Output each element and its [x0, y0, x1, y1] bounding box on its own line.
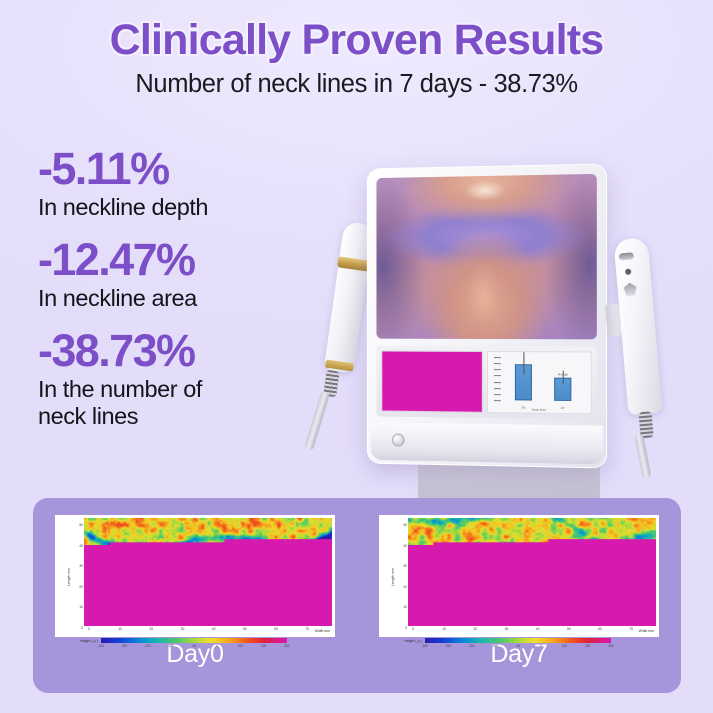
colorbar-tick: 0 — [216, 644, 218, 648]
comparison-panel-day7: Length mm 50403020100 010203040506070 Wi… — [376, 515, 662, 667]
heatmap-y-tick: 20 — [79, 585, 83, 589]
heatmap-x-tick: 40 — [536, 627, 540, 631]
mini-chart-y-axis — [492, 357, 501, 401]
heatmap-x-tick: 60 — [274, 627, 278, 631]
page-title: Clinically Proven Results — [0, 16, 713, 64]
colorbar-tick: -300 — [121, 644, 127, 648]
stat-label: In neckline area — [38, 285, 338, 312]
device-main-screen — [376, 174, 596, 339]
right-handpiece-cable — [634, 434, 651, 479]
heatmap-x-tick: 30 — [505, 627, 509, 631]
colorbar-tick: 300 — [608, 644, 613, 648]
heatmap-x-axis: 010203040506070 Width mm — [84, 626, 332, 635]
mini-bar-group: D0 — [515, 358, 532, 400]
device-body: D0 P<0.05 D7 Neck lines — [367, 164, 607, 469]
colorbar-tick: -100 — [491, 644, 497, 648]
colorbar-tick: 200 — [261, 644, 266, 648]
device-lower-panel: D0 P<0.05 D7 Neck lines — [376, 346, 596, 420]
stat-value: -5.11% — [38, 146, 338, 193]
mini-bar-group: P<0.05 D7 — [554, 358, 571, 401]
right-handpiece — [605, 236, 674, 440]
heatmap-y-axis: Length mm 50403020100 — [382, 518, 408, 635]
colorbar-gradient: -400-300-200-100-500100200300 — [101, 638, 287, 643]
heatmap-x-tick: 50 — [243, 627, 247, 631]
heatmap-y-tick: 40 — [79, 544, 83, 548]
heatmap-y-axis: Length mm 50403020100 — [58, 518, 84, 635]
colorbar-tick: -200 — [468, 644, 474, 648]
heatmap-x-tick: 40 — [212, 627, 216, 631]
heatmap-y-tick: 50 — [403, 523, 407, 527]
stat-value: -12.47% — [38, 237, 338, 284]
stat-item: -12.47% In neckline area — [38, 237, 338, 312]
heatmap-x-tick: 20 — [473, 627, 477, 631]
heatmap-y-tick: 10 — [403, 605, 407, 609]
colorbar-tick: -400 — [422, 644, 428, 648]
colorbar-tick: -300 — [445, 644, 451, 648]
device-base — [371, 422, 603, 464]
heatmap-x-tick: 70 — [629, 627, 633, 631]
colorbar-tick: 100 — [238, 644, 243, 648]
comparison-card: Length mm 50403020100 010203040506070 Wi… — [33, 498, 681, 693]
colorbar-gradient: -400-300-200-100-500100200300 — [425, 638, 611, 643]
heatmap-x-tick: 20 — [149, 627, 153, 631]
heatmap-x-tick: 10 — [118, 627, 122, 631]
heatmap-colorbar-row: Height ( μ ) -400-300-200-100-5001002003… — [382, 635, 656, 646]
stat-item: -5.11% In neckline depth — [38, 146, 338, 221]
mini-chart-x-label: Neck lines — [488, 407, 591, 412]
stat-value: -38.73% — [38, 328, 338, 375]
heatmap-y-tick: 0 — [405, 626, 407, 630]
heatmap-y-tick: 0 — [81, 626, 83, 630]
heatmap-x-title: Width mm — [315, 630, 330, 634]
heatmap-y-tick: 30 — [79, 564, 83, 568]
heatmap-y-title: Length mm — [391, 568, 395, 586]
heatmap-x-tick: 0 — [88, 627, 90, 631]
colorbar-tick: -200 — [144, 644, 150, 648]
heatmap-x-title: Width mm — [639, 630, 654, 634]
stat-item: -38.73% In the number ofneck lines — [38, 328, 338, 430]
power-button[interactable] — [392, 433, 405, 446]
heatmap-colorbar-row: Height ( μ ) -400-300-200-100-5001002003… — [58, 635, 332, 646]
right-handpiece-body — [613, 237, 662, 415]
colorbar-tick: 200 — [585, 644, 590, 648]
heatmap-frame: Length mm 50403020100 010203040506070 Wi… — [55, 515, 335, 637]
heatmap-frame: Length mm 50403020100 010203040506070 Wi… — [379, 515, 659, 637]
device-panel-heatmap — [381, 351, 483, 413]
heatmap-x-tick: 70 — [305, 627, 309, 631]
stat-label: In neckline depth — [38, 194, 338, 221]
heatmap-y-tick: 50 — [79, 523, 83, 527]
heatmap-x-tick: 10 — [442, 627, 446, 631]
colorbar-tick: -50 — [192, 644, 197, 648]
heatmap-x-tick: 50 — [567, 627, 571, 631]
device-panel-bar-chart: D0 P<0.05 D7 Neck lines — [487, 351, 592, 414]
heatmap-x-tick: 30 — [181, 627, 185, 631]
comparison-panel-day0: Length mm 50403020100 010203040506070 Wi… — [52, 515, 338, 667]
colorbar-tick: 0 — [540, 644, 542, 648]
heatmap-plot — [408, 518, 656, 626]
colorbar-tick: -50 — [516, 644, 521, 648]
poster-root: Clinically Proven Results Number of neck… — [0, 0, 713, 713]
heatmap-x-axis: 010203040506070 Width mm — [408, 626, 656, 635]
stat-label: In the number ofneck lines — [38, 376, 338, 431]
heatmap-y-tick: 30 — [403, 564, 407, 568]
header: Clinically Proven Results Number of neck… — [0, 0, 713, 99]
colorbar-tick: 100 — [562, 644, 567, 648]
heatmap-x-tick: 60 — [598, 627, 602, 631]
colorbar-label: Height ( μ ) — [80, 639, 98, 643]
heatmap-x-tick: 0 — [412, 627, 414, 631]
colorbar-tick: -100 — [167, 644, 173, 648]
heatmap-plot — [84, 518, 332, 626]
device-illustration: D0 P<0.05 D7 Neck lines — [322, 160, 713, 500]
heatmap-y-tick: 10 — [79, 605, 83, 609]
statistics-list: -5.11% In neckline depth -12.47% In neck… — [38, 146, 338, 430]
heatmap-y-title: Length mm — [67, 568, 71, 586]
colorbar-tick: -400 — [98, 644, 104, 648]
colorbar-label: Height ( μ ) — [404, 639, 422, 643]
heatmap-y-tick: 20 — [403, 585, 407, 589]
neck-treatment-image — [376, 174, 596, 339]
page-subtitle: Number of neck lines in 7 days - 38.73% — [0, 70, 713, 99]
heatmap-y-tick: 40 — [403, 544, 407, 548]
colorbar-tick: 300 — [284, 644, 289, 648]
